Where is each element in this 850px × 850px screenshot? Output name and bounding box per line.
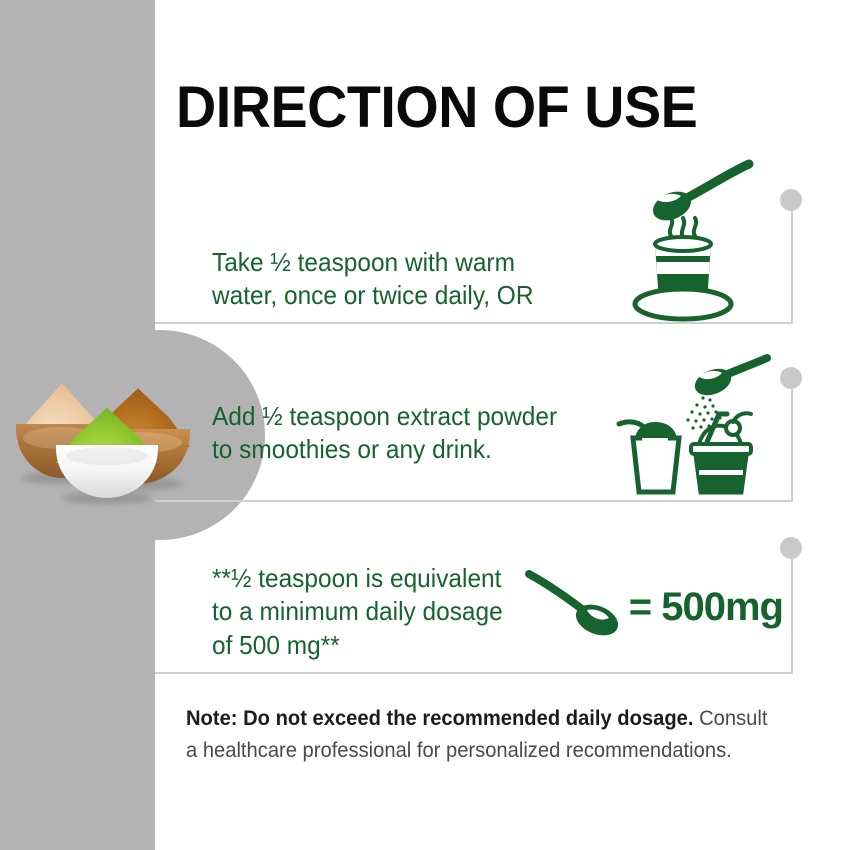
tilted-spoon-icon	[515, 562, 627, 653]
step-card-2: Add ½ teaspoon extract powder to smoothi…	[155, 378, 793, 502]
step-marker-dot-3	[780, 537, 802, 559]
page-title: DIRECTION OF USE	[176, 74, 697, 141]
spoon-over-steaming-glass-icon	[631, 144, 781, 329]
infographic-page: DIRECTION OF USE Take ½ teaspoon with wa…	[0, 0, 850, 850]
green-powder-white-bowl	[56, 406, 158, 498]
step-1-text: Take ½ teaspoon with warm water, once or…	[212, 246, 533, 313]
step-marker-dot-1	[780, 189, 802, 211]
step-card-3: **½ teaspoon is equivalent to a minimum …	[155, 548, 793, 674]
white-ceramic-bowl-vessel	[56, 445, 158, 498]
spoon-sprinkling-into-smoothies-icon	[615, 352, 785, 507]
step-3-text: **½ teaspoon is equivalent to a minimum …	[212, 562, 503, 662]
step-2-text: Add ½ teaspoon extract powder to smoothi…	[212, 400, 557, 467]
disclaimer-note: Note: Do not exceed the recommended dail…	[186, 703, 781, 766]
note-bold-text: Note: Do not exceed the recommended dail…	[186, 707, 693, 730]
dosage-equivalence-text: = 500mg	[629, 585, 783, 630]
step-card-1: Take ½ teaspoon with warm water, once or…	[155, 200, 793, 324]
powder-bowls-image	[8, 368, 198, 498]
dosage-equivalence: = 500mg	[515, 562, 783, 653]
